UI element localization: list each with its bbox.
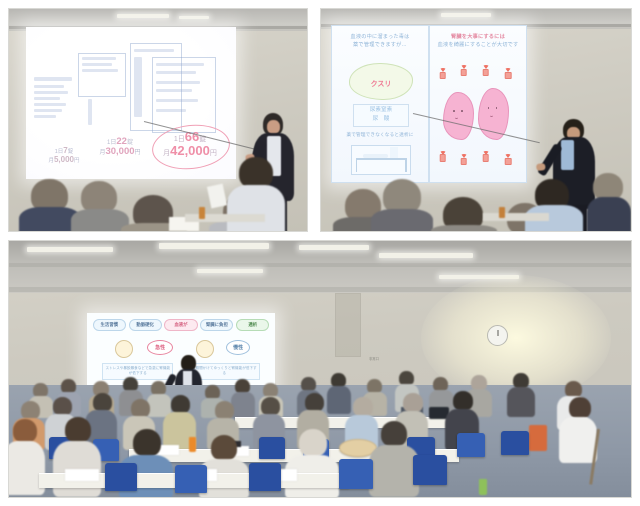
slide-text-block — [156, 71, 196, 74]
waste-line2: 尿 酸 — [354, 115, 408, 124]
audience-head — [353, 397, 373, 417]
slide-text-block — [34, 115, 56, 118]
cost-3-currency: 円 — [210, 150, 217, 157]
left-panel-caption: 薬で管理できなくなると透析に — [336, 132, 424, 139]
waste-line1: 尿素窒素 — [354, 106, 408, 115]
table-paper — [65, 469, 99, 481]
character-face-left — [115, 340, 133, 358]
arrow-character — [459, 65, 469, 75]
slide-text-block — [82, 57, 116, 60]
ceiling-light — [197, 269, 263, 273]
ceiling-light — [179, 16, 209, 19]
header-chip: 腎臓に負担 — [200, 319, 233, 332]
chair — [259, 437, 285, 459]
presenter-hand — [536, 163, 546, 171]
bottle — [199, 207, 205, 219]
slide-text-block — [156, 63, 204, 66]
kidney-character-left — [443, 92, 474, 141]
audience-torso — [587, 197, 631, 232]
character-face-right — [196, 340, 214, 358]
bed-frame-line — [356, 158, 358, 171]
slide-text-block — [34, 91, 68, 94]
audience-torso — [227, 185, 285, 232]
photo-collage: 1日7錠 月5,000円 1日22錠 月30,000円 1日66錠 月42,00… — [0, 0, 640, 506]
slide-text-block — [34, 85, 64, 88]
slide-text-block — [134, 57, 142, 117]
audience-torso — [371, 209, 433, 232]
bottle-orange — [189, 437, 196, 452]
speech-bubble-chronic: 慢性 — [226, 340, 250, 355]
chair — [413, 455, 447, 485]
kidney-care-slide: 血液の中に溜まった毒は 薬で管理できますが… クスリ 尿素窒素 尿 酸 薬で管理… — [331, 25, 527, 183]
presenter-face — [267, 120, 280, 134]
cost-2-amount: 30,000 — [105, 146, 134, 157]
right-title-line2: 血液を綺麗にすることが大切です — [438, 42, 519, 48]
waste-product-box: 尿素窒素 尿 酸 — [353, 104, 409, 127]
ceiling-light — [117, 14, 169, 18]
ceiling-beam — [9, 263, 631, 267]
medication-cost-slide: 1日7錠 月5,000円 1日22錠 月30,000円 1日66錠 月42,00… — [26, 27, 236, 179]
audience-head — [65, 417, 91, 443]
audience-head — [211, 435, 237, 461]
cost-2-currency: 円 — [135, 150, 141, 156]
slide-text-block — [156, 99, 198, 102]
chair — [457, 433, 485, 457]
slide-text-block — [82, 69, 118, 72]
arrow-character — [438, 68, 448, 78]
wall-sign: 非常口 — [361, 357, 387, 362]
chair — [339, 459, 373, 489]
bed-frame-line — [356, 158, 407, 160]
right-title-line1: 腎臓を大事にするには — [451, 34, 505, 40]
projection-screen: 1日7錠 月5,000円 1日22錠 月30,000円 1日66錠 月42,00… — [26, 27, 236, 179]
ceiling-light — [299, 245, 369, 250]
photo-bottom[interactable]: 非常口 生活習慣 動脈硬化 血液が 腎臓に負担 透析 急性 慢性 ス — [8, 240, 632, 498]
slide-text-block — [34, 109, 62, 112]
photo-top-right[interactable]: 血液の中に溜まった毒は 薬で管理できますが… クスリ 尿素窒素 尿 酸 薬で管理… — [320, 8, 632, 232]
audience-head — [381, 421, 407, 447]
chair — [175, 465, 207, 493]
audience-torso — [559, 417, 597, 463]
slide-text-block — [156, 109, 186, 112]
slide-header-chips: 生活習慣 動脈硬化 血液が 腎臓に負担 透析 — [93, 318, 270, 332]
audience-head — [133, 429, 161, 457]
slide-text-block — [156, 89, 192, 92]
slide-text-block — [156, 81, 200, 84]
chair — [501, 431, 529, 455]
slide-right-panel: 腎臓を大事にするには 血液を綺麗にすることが大切です — [429, 25, 527, 183]
speech-bubble-acute: 急性 — [147, 340, 173, 355]
left-title-line2: 薬で管理できますが… — [353, 42, 407, 48]
chair — [249, 463, 281, 491]
chair — [105, 463, 137, 491]
arrow-character — [438, 151, 448, 161]
ceiling-light — [159, 243, 269, 249]
bed-patient — [363, 154, 388, 158]
cost-group-2: 1日22錠 月30,000円 — [88, 137, 152, 157]
arrow-character — [503, 154, 513, 164]
bottle-green — [479, 479, 487, 495]
slide-text-block — [34, 77, 72, 81]
acute-description-box: ストレスや暴飲暴食などで急激に腎機能が低下する — [102, 363, 173, 380]
bottle — [499, 207, 505, 218]
right-panel-title: 腎臓を大事にするには 血液を綺麗にすることが大切です — [434, 34, 522, 50]
ceiling-light — [379, 253, 473, 258]
table-surface — [185, 214, 265, 222]
header-chip: 透析 — [236, 319, 269, 332]
slide-left-panel: 血液の中に溜まった毒は 薬で管理できますが… クスリ 尿素窒素 尿 酸 薬で管理… — [331, 25, 429, 183]
audience-head — [299, 429, 327, 457]
audience-head — [403, 393, 423, 413]
audience-torso — [507, 387, 535, 417]
audience-head — [569, 397, 591, 419]
slide-text-block — [34, 103, 66, 106]
hospital-bed-illustration — [351, 145, 411, 175]
left-panel-title: 血液の中に溜まった毒は 薬で管理できますが… — [336, 34, 424, 50]
arrow-character — [481, 151, 491, 161]
audience-torso — [327, 386, 351, 414]
audience-head — [13, 419, 37, 443]
arrow-character — [459, 154, 469, 164]
table-surface — [483, 213, 549, 221]
photo-top-left[interactable]: 1日7錠 月5,000円 1日22錠 月30,000円 1日66錠 月42,00… — [8, 8, 308, 232]
slide-text-block — [82, 63, 112, 66]
header-chip: 動脈硬化 — [129, 319, 162, 332]
wall-clock — [487, 325, 508, 346]
audience-torso — [431, 225, 497, 232]
projection-screen: 血液の中に溜まった毒は 薬で管理できますが… クスリ 尿素窒素 尿 酸 薬で管理… — [331, 25, 527, 183]
audience-torso — [231, 392, 255, 418]
header-chip: 血液が — [164, 319, 197, 332]
cost-group-1: 1日7錠 月5,000円 — [38, 147, 90, 165]
medicine-blob: クスリ — [349, 63, 412, 99]
handbag-orange — [529, 425, 547, 451]
room-door — [335, 293, 361, 357]
slide-text-block — [134, 49, 174, 52]
cost-3-amount: 42,000 — [170, 143, 210, 158]
cost-1-currency: 円 — [74, 158, 80, 164]
arrow-character — [481, 65, 491, 75]
presenter-shirt — [561, 140, 574, 170]
medicine-label: クスリ — [350, 79, 411, 89]
header-chip: 生活習慣 — [93, 319, 126, 332]
left-title-line1: 血液の中に溜まった毒は — [350, 34, 409, 40]
cost-1-amount: 5,000 — [54, 155, 74, 164]
bed-frame-line — [405, 158, 407, 171]
audience-torso — [369, 445, 419, 497]
slide-sub-panel — [152, 57, 216, 133]
ceiling-light — [27, 247, 113, 252]
slide-text-block — [34, 97, 60, 100]
dialysis-machine — [390, 147, 398, 158]
slide-arrow-column — [88, 99, 92, 125]
arrow-character — [503, 68, 513, 78]
cost-group-3: 1日66錠 月42,000円 — [157, 130, 223, 157]
audience-head — [453, 391, 473, 411]
ceiling-light — [441, 13, 491, 17]
left-caption-text: 薬で管理できなくなると透析に — [346, 132, 413, 137]
